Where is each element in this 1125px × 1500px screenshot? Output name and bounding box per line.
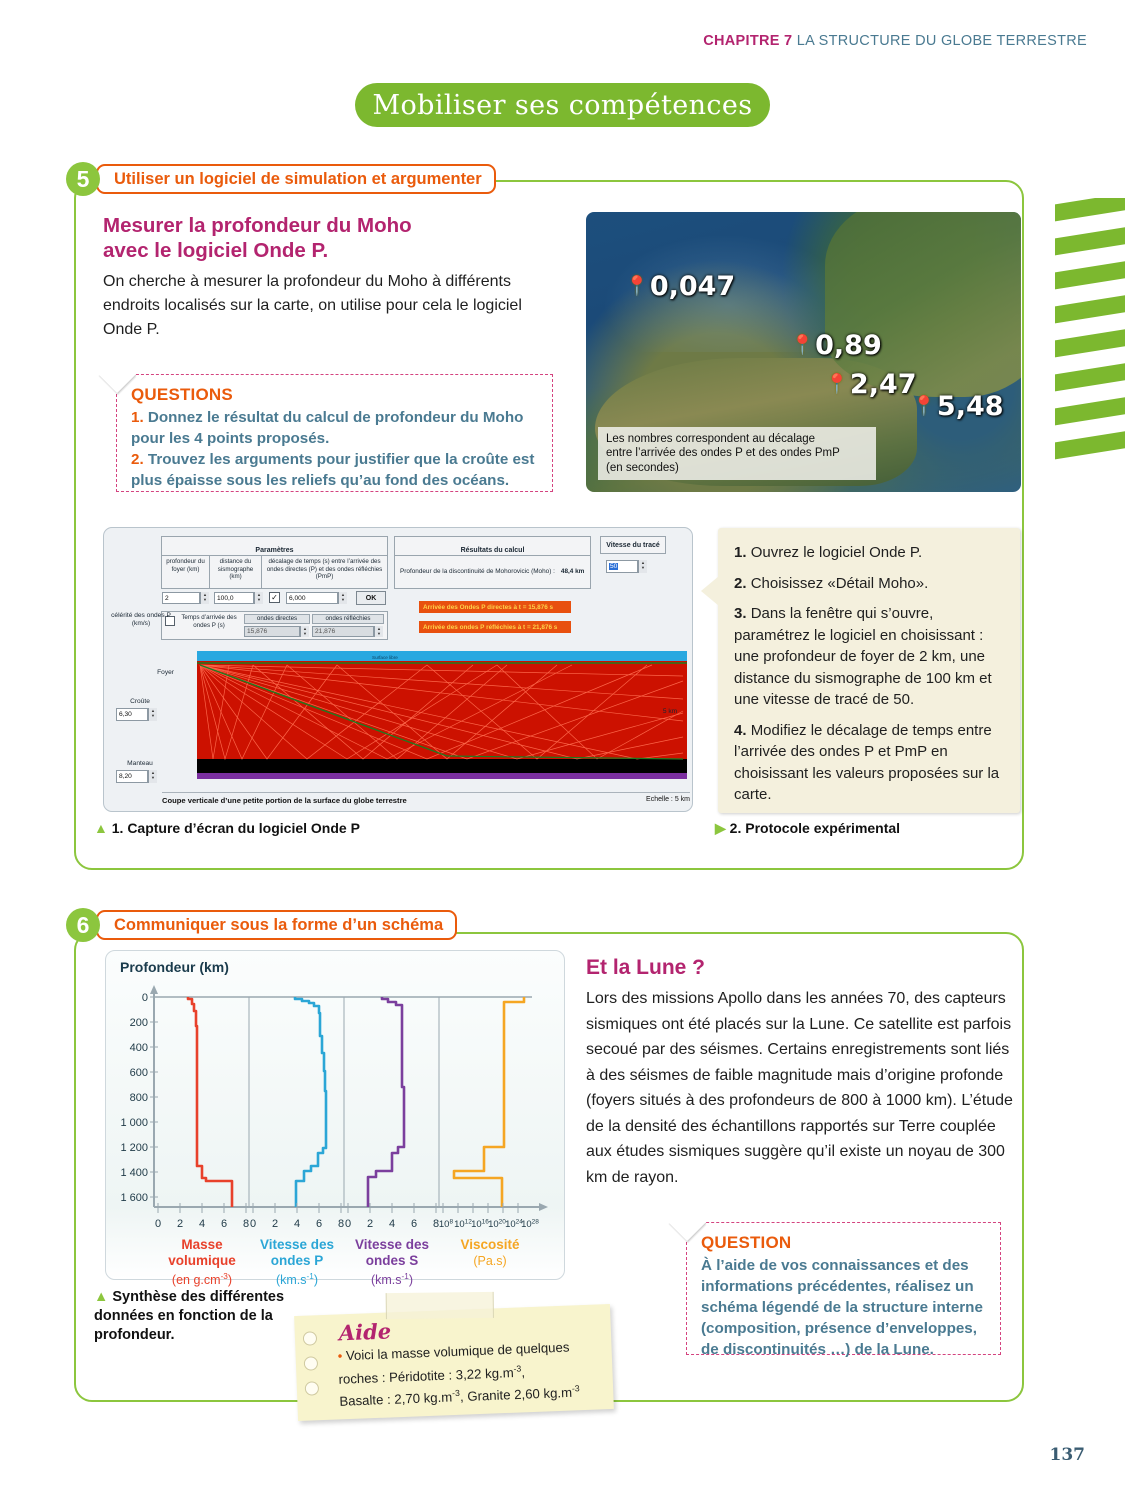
croute-stepper[interactable]: ▲▼ bbox=[148, 708, 157, 721]
map-pin: 📍 2,47 bbox=[825, 369, 916, 400]
software-screenshot-figure: Paramètres profondeur du foyer (km) dist… bbox=[103, 527, 693, 812]
svg-text:1 400: 1 400 bbox=[120, 1167, 148, 1179]
chart-panel-label-viscosity: Viscosité (Pa.s) bbox=[442, 1237, 538, 1269]
manteau-stepper[interactable]: ▲▼ bbox=[148, 770, 157, 783]
questions-box-6: QUESTION À l’aide de vos connaissances e… bbox=[686, 1222, 1001, 1355]
protocol-step-text: Ouvrez le logiciel Onde P. bbox=[751, 544, 922, 561]
chart-y-axis-label: Profondeur (km) bbox=[120, 959, 229, 975]
reflected-arrival-banner: Arrivée des ondes P réfléchies à t = 21,… bbox=[419, 621, 571, 633]
protocol-step-text: Dans la fenêtre qui s’ouvre, paramétrez … bbox=[734, 605, 992, 708]
chapter-header: CHAPITRE 7 LA STRUCTURE DU GLOBE TERREST… bbox=[703, 33, 1087, 49]
question-number: 2. bbox=[131, 451, 144, 468]
depth-stepper[interactable]: ▲▼ bbox=[200, 592, 209, 604]
svg-text:4: 4 bbox=[294, 1218, 300, 1230]
protocol-callout: 1. Ouvrez le logiciel Onde P. 2. Choisis… bbox=[718, 528, 1020, 813]
svg-text:4: 4 bbox=[389, 1218, 395, 1230]
raytrace-graph: Surface libre bbox=[197, 651, 687, 779]
figure-2-caption-text: 2. Protocole expérimental bbox=[730, 820, 900, 836]
question-text: Donnez le résultat du calcul de profonde… bbox=[131, 409, 523, 447]
svg-text:6: 6 bbox=[411, 1218, 417, 1230]
croute-input[interactable]: 6,30 bbox=[116, 708, 148, 721]
tape-strip bbox=[386, 1292, 494, 1319]
croute-label: Croûte bbox=[114, 698, 166, 706]
question-text: Trouvez les arguments pour justifier que… bbox=[131, 451, 534, 489]
direct-waves-value: 15,876 bbox=[244, 626, 300, 637]
aide-title: Aide bbox=[338, 1318, 391, 1345]
aide-note: Aide • Voici la masse volumique de quelq… bbox=[294, 1304, 614, 1421]
delay-stepper[interactable]: ▲▼ bbox=[338, 592, 347, 604]
svg-text:6: 6 bbox=[221, 1218, 227, 1230]
decorative-stripes bbox=[1055, 198, 1125, 460]
chart-figure-caption: ▲ Synthèse des différentes données en fo… bbox=[94, 1288, 309, 1345]
svg-text:400: 400 bbox=[130, 1042, 148, 1054]
svg-text:600: 600 bbox=[130, 1067, 148, 1079]
svg-text:1028: 1028 bbox=[521, 1219, 539, 1231]
pin-value: 5,48 bbox=[937, 391, 1004, 422]
pin-icon: 📍 bbox=[825, 375, 849, 394]
graph-caption: Coupe verticale d’une petite portion de … bbox=[162, 796, 407, 805]
chart-panel-unit-viscosity: (Pa.s) bbox=[473, 1254, 506, 1268]
chart-panel-unit-pwave: (km.s-1) bbox=[276, 1273, 318, 1287]
manteau-input[interactable]: 8,20 bbox=[116, 770, 148, 783]
question-number: 1. bbox=[131, 409, 144, 426]
depth-profile-chart: Profondeur (km) 0 200 400 600 800 1 000 … bbox=[105, 950, 565, 1280]
pin-icon: 📍 bbox=[625, 277, 649, 296]
vitesse-trace-stepper[interactable]: ▲▼ bbox=[638, 560, 647, 573]
svg-text:0: 0 bbox=[155, 1218, 161, 1230]
reflected-waves-stepper[interactable]: ▲▼ bbox=[374, 626, 383, 637]
parametres-title: Paramètres bbox=[255, 547, 293, 554]
svg-text:0: 0 bbox=[142, 992, 148, 1004]
section5-intro-text: On cherche à mesurer la profondeur du Mo… bbox=[103, 270, 555, 342]
svg-text:4: 4 bbox=[199, 1218, 205, 1230]
pin-icon: 📍 bbox=[912, 397, 936, 416]
manteau-label: Manteau bbox=[112, 760, 168, 768]
map-legend: Les nombres correspondent au décalage en… bbox=[598, 427, 876, 481]
raytrace-svg: Surface libre bbox=[197, 651, 687, 779]
exercise-5-title: Utiliser un logiciel de simulation et ar… bbox=[96, 164, 496, 194]
chart-panel-unit-density: (en g.cm-3) bbox=[172, 1273, 232, 1287]
celerite-label: célérité des ondes P (km/s) bbox=[110, 612, 172, 628]
lune-text-column: Et la Lune ? Lors des missions Apollo da… bbox=[586, 956, 1018, 1190]
pin-value: 2,47 bbox=[850, 369, 917, 400]
svg-text:Surface libre: Surface libre bbox=[372, 655, 398, 660]
pin-value: 0,89 bbox=[815, 330, 882, 361]
satellite-map-figure: 📍 0,047 📍 0,89 📍 2,47 📍 5,48 Les nombres… bbox=[586, 212, 1021, 492]
arrival-time-label: Temps d’arrivée des ondes P (s) bbox=[178, 614, 240, 629]
vitesse-trace-title: Vitesse du tracé bbox=[606, 542, 660, 549]
map-legend-line: (en secondes) bbox=[606, 461, 868, 476]
chapter-number: CHAPITRE 7 bbox=[703, 33, 792, 49]
chart-panel-label-swave: Vitesse des ondes S (km.s-1) bbox=[344, 1237, 440, 1288]
graph-scale-side: 5 km bbox=[652, 708, 688, 716]
map-pin: 📍 5,48 bbox=[912, 391, 1003, 422]
col-header-depth: profondeur du foyer (km) bbox=[162, 556, 210, 588]
protocol-step-text: Modifiez le décalage de temps entre l’ar… bbox=[734, 722, 999, 804]
lune-heading: Et la Lune ? bbox=[586, 956, 1018, 980]
distance-stepper[interactable]: ▲▼ bbox=[254, 592, 263, 604]
svg-text:0: 0 bbox=[345, 1218, 351, 1230]
svg-text:0: 0 bbox=[250, 1218, 256, 1230]
lune-paragraph: Lors des missions Apollo dans les années… bbox=[586, 986, 1018, 1190]
section5-subheading: Mesurer la profondeur du Moho avec le lo… bbox=[103, 213, 563, 263]
svg-text:2: 2 bbox=[272, 1218, 278, 1230]
protocol-step: 1. Ouvrez le logiciel Onde P. bbox=[734, 542, 1004, 564]
svg-text:1 600: 1 600 bbox=[120, 1192, 148, 1204]
chart-svg: 0 200 400 600 800 1 000 1 200 1 400 1 60… bbox=[106, 981, 564, 1231]
result-value: 48,4 km bbox=[561, 568, 584, 576]
vitesse-trace-input[interactable]: 50 bbox=[606, 560, 638, 573]
svg-text:2: 2 bbox=[367, 1218, 373, 1230]
svg-text:8: 8 bbox=[338, 1218, 344, 1230]
graph-scale: Echelle : 5 km bbox=[646, 796, 690, 805]
distance-input[interactable]: 100,0 bbox=[214, 592, 254, 604]
chart-panel-unit-swave: (km.s-1) bbox=[371, 1273, 413, 1287]
question-item: 2. Trouvez les arguments pour justifier … bbox=[131, 449, 540, 491]
protocol-step: 3. Dans la fenêtre qui s’ouvre, paramétr… bbox=[734, 603, 1004, 711]
map-pin: 📍 0,047 bbox=[625, 271, 735, 302]
svg-text:8: 8 bbox=[243, 1218, 249, 1230]
direct-waves-stepper[interactable]: ▲▼ bbox=[300, 626, 309, 637]
protocol-step-text: Choisissez «Détail Moho». bbox=[751, 575, 929, 592]
map-legend-line: entre l’arrivée des ondes P et des ondes… bbox=[606, 446, 868, 461]
direct-waves-header: ondes directes bbox=[244, 614, 310, 624]
svg-text:2: 2 bbox=[177, 1218, 183, 1230]
pin-value: 0,047 bbox=[650, 271, 735, 302]
punch-holes bbox=[303, 1331, 320, 1406]
vitesse-trace-header: Vitesse du tracé bbox=[600, 536, 666, 554]
parametres-column-headers: profondeur du foyer (km) distance du sis… bbox=[161, 555, 388, 589]
direct-arrival-banner: Arrivée des Ondes P directes à t = 15,87… bbox=[419, 601, 571, 613]
svg-text:108: 108 bbox=[439, 1219, 454, 1231]
col-header-distance: distance du sismographe (km) bbox=[210, 556, 262, 588]
delay-checkbox[interactable]: ✓ bbox=[269, 592, 280, 603]
reflected-waves-value: 21,876 bbox=[312, 626, 374, 637]
chart-panel-label-density: Masse volumique (en g.cm-3) bbox=[154, 1237, 250, 1288]
page-title-banner: Mobiliser ses compétences bbox=[355, 83, 770, 127]
questions-label: QUESTIONS bbox=[131, 385, 540, 405]
exercise-6-number: 6 bbox=[66, 908, 100, 942]
map-pin: 📍 0,89 bbox=[790, 330, 881, 361]
exercise-6-title: Communiquer sous la forme d’un schéma bbox=[96, 910, 457, 940]
graph-caption-row: Coupe verticale d’une petite portion de … bbox=[162, 792, 690, 805]
delay-input[interactable]: 6,000 bbox=[286, 592, 338, 604]
protocol-step: 4. Modifiez le décalage de temps entre l… bbox=[734, 720, 1004, 806]
svg-text:1020: 1020 bbox=[488, 1219, 506, 1231]
result-label: Profondeur de la discontinuité de Mohoro… bbox=[400, 568, 555, 576]
svg-text:1 000: 1 000 bbox=[120, 1117, 148, 1129]
map-legend-line: Les nombres correspondent au décalage bbox=[606, 432, 868, 447]
triangle-up-icon: ▲ bbox=[94, 1289, 108, 1305]
svg-text:200: 200 bbox=[130, 1017, 148, 1029]
svg-text:1012: 1012 bbox=[454, 1219, 472, 1231]
arrival-time-panel: Temps d’arrivée des ondes P (s) ondes di… bbox=[161, 611, 388, 640]
question-item: 1. Donnez le résultat du calcul de profo… bbox=[131, 407, 540, 449]
question-label: QUESTION bbox=[701, 1233, 988, 1253]
svg-text:6: 6 bbox=[316, 1218, 322, 1230]
ok-button[interactable]: OK bbox=[356, 591, 386, 605]
depth-input[interactable]: 2 bbox=[162, 592, 200, 604]
triangle-up-icon: ▲ bbox=[94, 820, 108, 836]
pin-icon: 📍 bbox=[790, 336, 814, 355]
aide-text: • Voici la masse volumique de quelques r… bbox=[337, 1336, 607, 1412]
foyer-label: Foyer bbox=[134, 669, 174, 677]
questions-box-5: QUESTIONS 1. Donnez le résultat du calcu… bbox=[116, 374, 553, 492]
section5-text-column: Mesurer la profondeur du Moho avec le lo… bbox=[103, 213, 563, 342]
resultats-title: Résultats du calcul bbox=[461, 547, 525, 554]
exercise-5-number: 5 bbox=[66, 162, 100, 196]
col-header-delay: décalage de temps (s) entre l’arrivée de… bbox=[262, 556, 387, 588]
figure-1-caption: ▲ 1. Capture d’écran du logiciel Onde P bbox=[94, 820, 360, 836]
triangle-right-icon: ▶ bbox=[715, 820, 726, 836]
svg-text:1016: 1016 bbox=[471, 1219, 489, 1231]
figure-2-caption: ▶ 2. Protocole expérimental bbox=[715, 820, 900, 837]
chart-panel-label-pwave: Vitesse des ondes P (km.s-1) bbox=[249, 1237, 345, 1288]
protocol-step-number: 3. bbox=[734, 605, 747, 622]
figure-1-caption-text: 1. Capture d’écran du logiciel Onde P bbox=[112, 820, 360, 836]
protocol-step-number: 2. bbox=[734, 575, 747, 592]
reflected-waves-header: ondes réfléchies bbox=[312, 614, 384, 624]
chapter-title: LA STRUCTURE DU GLOBE TERRESTRE bbox=[797, 33, 1087, 49]
protocol-step-number: 1. bbox=[734, 544, 747, 561]
svg-text:800: 800 bbox=[130, 1092, 148, 1104]
svg-text:1 200: 1 200 bbox=[120, 1142, 148, 1154]
protocol-step-number: 4. bbox=[734, 722, 747, 739]
protocol-step: 2. Choisissez «Détail Moho». bbox=[734, 573, 1004, 595]
question-text: À l’aide de vos connaissances et des inf… bbox=[701, 1255, 988, 1360]
resultats-value-row: Profondeur de la discontinuité de Mohoro… bbox=[394, 555, 591, 589]
page-number: 137 bbox=[1050, 1445, 1086, 1465]
